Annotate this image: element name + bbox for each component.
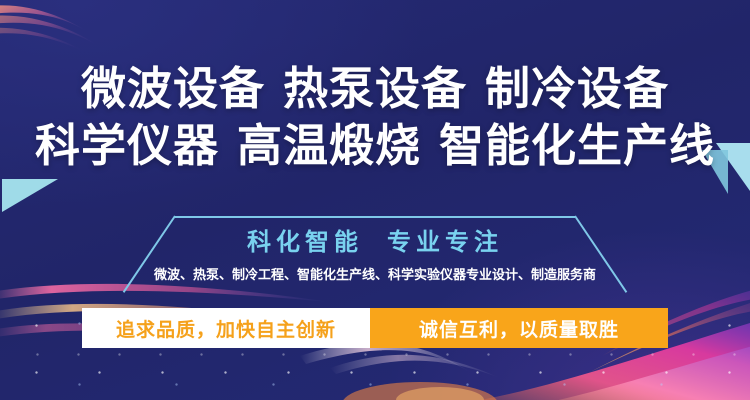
headline-item-refrigeration: 制冷设备 <box>485 63 669 114</box>
headline-line-2: 科学仪器高温煅烧智能化生产线 <box>0 117 750 174</box>
slogan-left: 科化智能 <box>247 229 363 256</box>
subline-description: 微波、热泵、制冷工程、智能化生产线、科学实验仪器专业设计、制造服务商 <box>0 264 750 283</box>
headline-item-microwave: 微波设备 <box>81 63 265 114</box>
headline-item-smartline: 智能化生产线 <box>439 120 715 171</box>
promo-banner: 微波设备热泵设备制冷设备 科学仪器高温煅烧智能化生产线 科化智能专业专注 微波、… <box>0 0 750 400</box>
slogan-right: 专业专注 <box>387 229 503 256</box>
headline: 微波设备热泵设备制冷设备 科学仪器高温煅烧智能化生产线 <box>0 60 750 174</box>
headline-item-calcination: 高温煅烧 <box>237 120 421 171</box>
tagline-bar-quality[interactable]: 追求品质，加快自主创新 <box>82 308 370 348</box>
tagline-bars: 追求品质，加快自主创新 诚信互利，以质量取胜 <box>82 308 668 348</box>
triangle-accent-left-icon <box>2 179 58 212</box>
tagline-bar-integrity[interactable]: 诚信互利，以质量取胜 <box>370 308 668 348</box>
headline-item-heatpump: 热泵设备 <box>283 63 467 114</box>
headline-line-1: 微波设备热泵设备制冷设备 <box>0 60 750 117</box>
slogan: 科化智能专业专注 <box>0 222 750 257</box>
headline-item-instruments: 科学仪器 <box>35 120 219 171</box>
